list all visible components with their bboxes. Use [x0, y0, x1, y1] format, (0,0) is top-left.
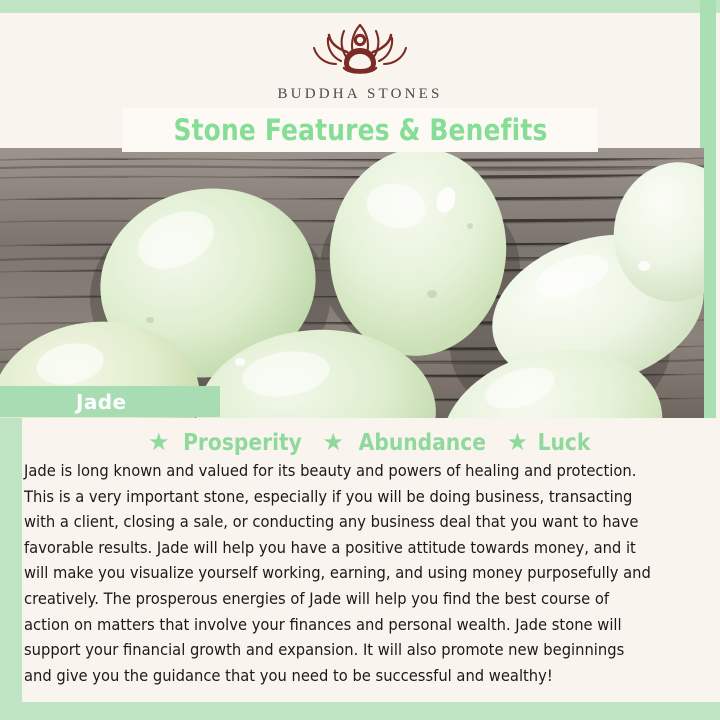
hero-stone-photo: [0, 148, 704, 418]
star-icon: ★: [148, 431, 170, 455]
page-title: Stone Features & Benefits: [173, 113, 547, 147]
jade-stones-image: [0, 148, 704, 418]
keyword-label: Luck: [538, 430, 591, 456]
keyword-label: Abundance: [359, 430, 486, 456]
keyword-item-luck: ★ Luck: [507, 430, 594, 456]
stone-name-band: Jade: [0, 386, 220, 417]
brand-name: BUDDHA STONES: [0, 86, 720, 103]
star-icon: ★: [322, 431, 344, 455]
star-icon: ★: [507, 431, 529, 455]
frame-top-band: [0, 0, 720, 13]
lotus-meditation-icon: [300, 16, 420, 82]
brand-logo: BUDDHA STONES: [0, 16, 720, 103]
stone-name-label: Jade: [76, 390, 126, 414]
keyword-label: Prosperity: [184, 430, 303, 456]
keyword-item-prosperity: ★ Prosperity: [148, 430, 310, 456]
stone-description: Jade is long known and valued for its be…: [24, 458, 652, 688]
keyword-item-abundance: ★ Abundance: [322, 430, 494, 456]
keyword-list: ★ Prosperity ★ Abundance ★ Luck: [22, 430, 720, 456]
page-title-banner: Stone Features & Benefits: [122, 108, 598, 152]
infographic-page: BUDDHA STONES: [0, 0, 720, 720]
frame-left-band: [0, 372, 22, 720]
